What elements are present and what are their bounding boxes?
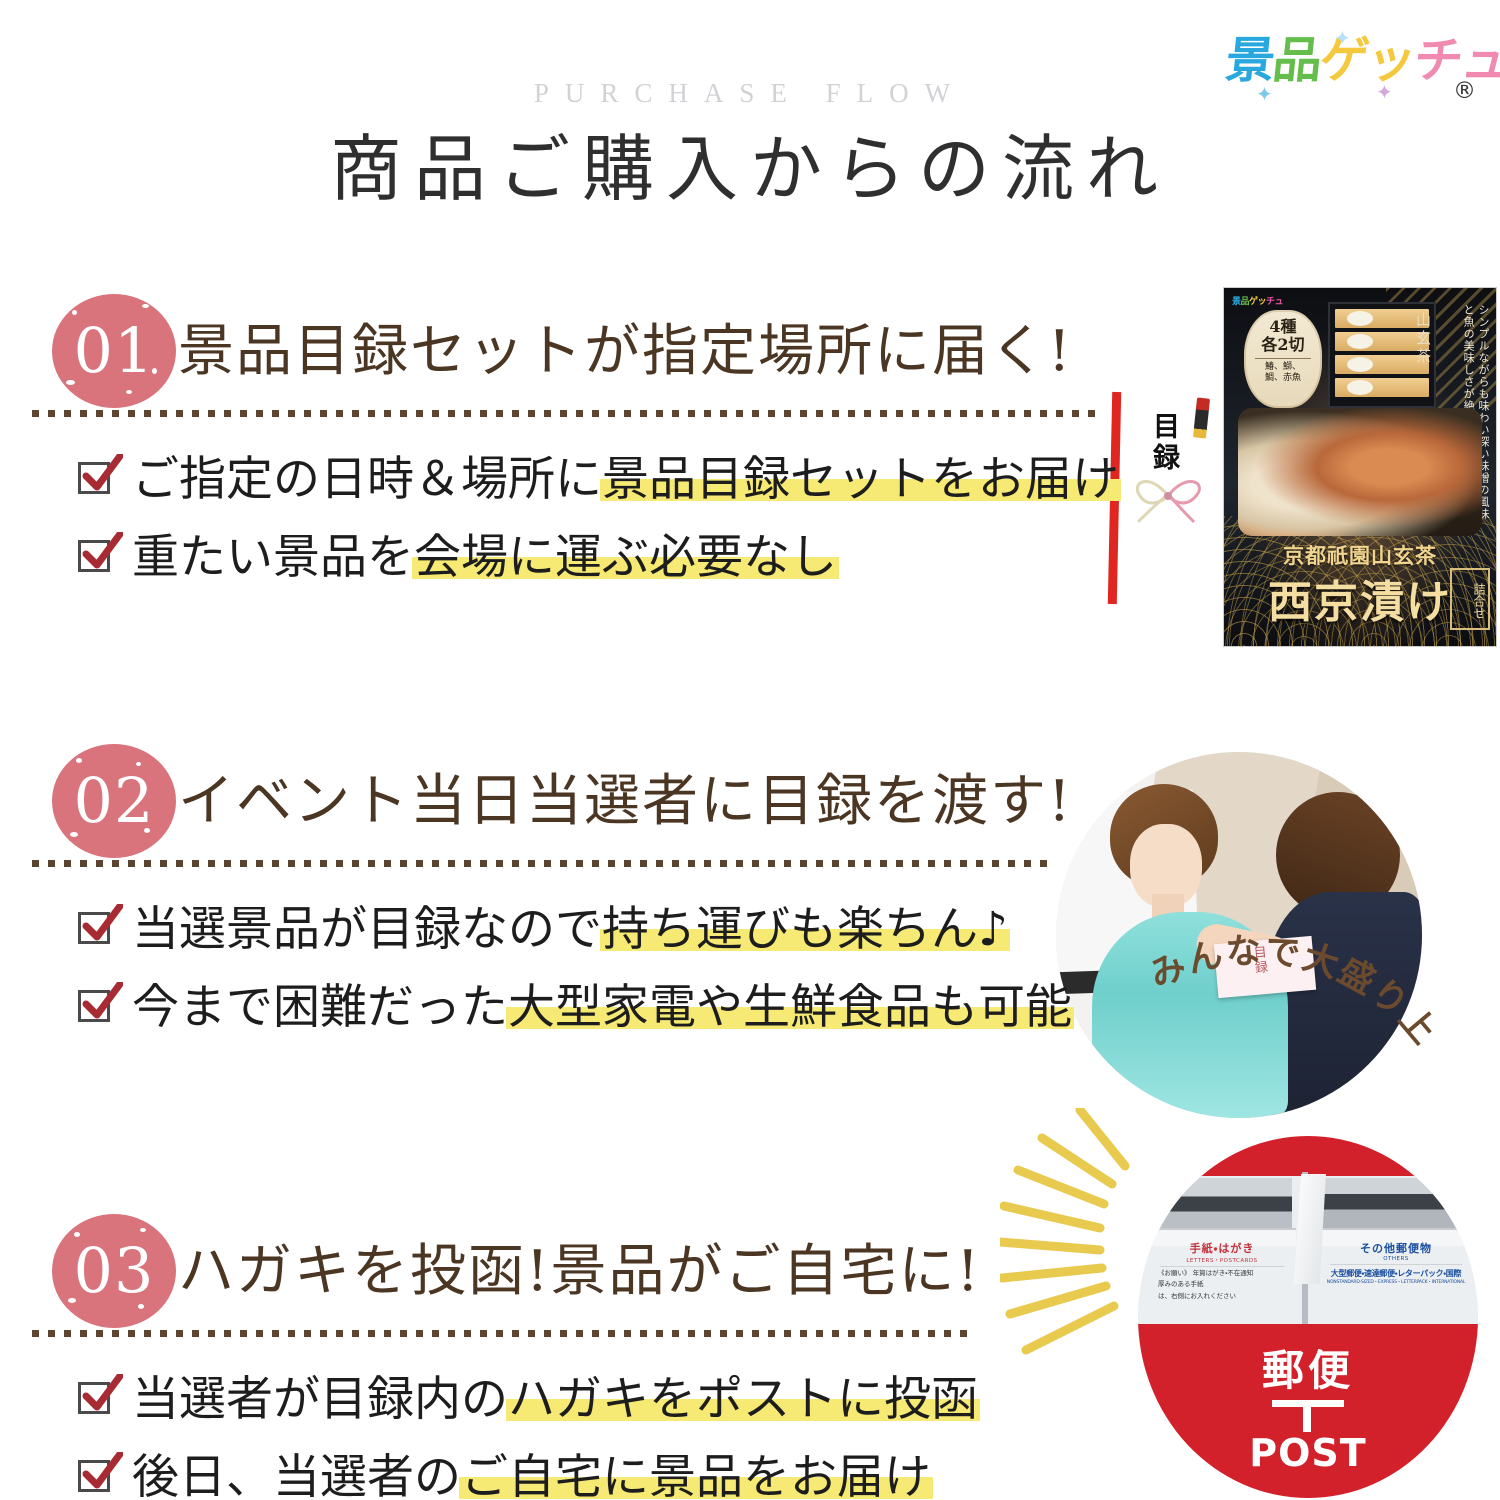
bullet-text: 当選者が目録内のハガキをポストに投函 xyxy=(132,1376,978,1423)
badge-speckle xyxy=(66,380,75,385)
step-02-title: イベント当日当選者に目録を渡す! xyxy=(178,756,1073,837)
check-icon xyxy=(78,1458,116,1496)
purchase-flow-infographic: PURCHASE FLOW 商品ご購入からの流れ 景品ゲッチュ! ✦ ✦ ✦ ®… xyxy=(0,0,1500,1500)
registered-trademark-icon: ® xyxy=(1453,78,1476,104)
post-box-right-label-jp: その他郵便物 xyxy=(1324,1240,1468,1256)
bullet-text: ご指定の日時＆場所に景品目録セットをお届け xyxy=(132,456,1119,503)
badge-speckle xyxy=(68,1298,76,1303)
bullet-text-highlight: 持ち運びも楽ちん♪ xyxy=(602,906,1008,953)
bullet-text-highlight: ご自宅に景品をお届け xyxy=(461,1454,931,1500)
bullet-text-pre: 当選景品が目録なので xyxy=(132,902,602,957)
bullet-text-highlight: 大型家電や生鮮食品も可能 xyxy=(508,984,1072,1031)
post-box-right-sub-jp: 大型郵便・速達郵便・レターパック・国際 xyxy=(1324,1268,1468,1279)
step-03-badge: 03 xyxy=(52,1214,176,1328)
mokuroku-envelope: 目録 xyxy=(1106,392,1218,604)
step-03-bullets: 当選者が目録内のハガキをポストに投函 後日、当選者のご自宅に景品をお届け xyxy=(78,1360,978,1500)
brand-logo-part-2: 品 xyxy=(1270,32,1323,89)
mizuhiki-bow-icon xyxy=(1124,462,1212,524)
post-box-label-left: 手紙・はがき LETTERS・POSTCARDS 《お願い》 年賀はがき・不在通… xyxy=(1154,1240,1290,1301)
post-box-left-label-jp: 手紙・はがき xyxy=(1154,1240,1290,1256)
bullet-text-pre: 後日、当選者の xyxy=(132,1450,461,1500)
bullet-text-highlight: 景品目録セットをお届け xyxy=(602,456,1119,503)
post-box-slot-right xyxy=(1322,1178,1470,1232)
package-kinds-sub: 鰆、鰤、 鯛、赤魚 xyxy=(1255,358,1311,385)
bullet-text-pre: 今まで困難だった xyxy=(132,980,508,1035)
bullet-text: 当選景品が目録なので持ち運びも楽ちん♪ xyxy=(132,906,1008,953)
step-01-divider xyxy=(32,410,1102,417)
post-box-right-sub-en: NONSTANDARD-SIZED・EXPRESS・LETTERPACK・INT… xyxy=(1324,1279,1468,1285)
post-box-left-label-en: LETTERS・POSTCARDS xyxy=(1154,1256,1290,1264)
post-box-photo: 手紙・はがき LETTERS・POSTCARDS 《お願い》 年賀はがき・不在通… xyxy=(1138,1136,1478,1498)
noshi-ornament-icon xyxy=(1193,397,1210,438)
badge-speckle xyxy=(126,390,132,394)
check-icon xyxy=(78,1380,116,1418)
badge-speckle xyxy=(142,304,149,308)
sparkle-icon: ✦ xyxy=(1256,82,1273,107)
step-03-artwork: 手紙・はがき LETTERS・POSTCARDS 《お願い》 年賀はがき・不在通… xyxy=(1000,1108,1500,1500)
post-box-left-note-2: 厚みのある手紙 xyxy=(1154,1280,1290,1289)
badge-speckle xyxy=(144,828,150,833)
grilled-fish-photo xyxy=(1238,408,1482,536)
photo-envelope-label: 目録 xyxy=(1248,945,1270,977)
list-item: 当選景品が目録なので持ち運びも楽ちん♪ xyxy=(78,890,1072,968)
list-item: 後日、当選者のご自宅に景品をお届け xyxy=(78,1438,978,1500)
post-box-left-note-3: は、右側にお入れください xyxy=(1154,1292,1290,1301)
step-01-bullets: ご指定の日時＆場所に景品目録セットをお届け 当選景品が目録なので重たい景品を会場… xyxy=(78,440,1119,596)
badge-speckle xyxy=(140,1228,146,1232)
brand-logo-part-3: ゲッ xyxy=(1317,32,1417,89)
bullet-text-highlight: 会場に運ぶ必要なし xyxy=(414,534,837,581)
step-01-number: 01 xyxy=(74,314,155,387)
check-icon xyxy=(78,538,116,576)
post-box-mark-en: POST xyxy=(1138,1434,1478,1472)
brand-logo: 景品ゲッチュ! ✦ ✦ ✦ ® xyxy=(1226,20,1478,110)
bullet-text-pre: 当選者が目録内の xyxy=(132,1372,508,1427)
step-02-divider xyxy=(32,860,1052,867)
step-02-bullets: 当選景品が目録なので持ち運びも楽ちん♪ 今まで困難だった大型家電や生鮮食品も可能 xyxy=(78,890,1072,1046)
award-ceremony-photo: 目録 xyxy=(1056,752,1422,1118)
step-03-number: 03 xyxy=(74,1234,155,1307)
step-01-artwork: 目録 景品ゲッチュ 4種 各2切 鰆、鰤、 鯛、赤魚 山玄茶 シンプルながらも味… xyxy=(1096,288,1500,660)
product-package-photo: 景品ゲッチュ 4種 各2切 鰆、鰤、 鯛、赤魚 山玄茶 シンプルながらも味わい深… xyxy=(1224,288,1496,646)
bullet-text: 当選景品が目録なので重たい景品を会場に運ぶ必要なし xyxy=(132,534,837,581)
bullet-text: 今まで困難だった大型家電や生鮮食品も可能 xyxy=(132,984,1072,1031)
check-icon xyxy=(78,460,116,498)
list-item: ご指定の日時＆場所に景品目録セットをお届け xyxy=(78,440,1119,518)
badge-speckle xyxy=(70,832,78,837)
photo-person-right-body xyxy=(1266,892,1422,1118)
sparkle-icon: ✦ xyxy=(1334,26,1351,51)
step-01-title: 景品目録セットが指定場所に届く! xyxy=(178,306,1073,387)
package-kinds-badge: 4種 各2切 鰆、鰤、 鯛、赤魚 xyxy=(1244,310,1322,408)
badge-speckle xyxy=(138,1304,144,1309)
step-02-badge: 02 xyxy=(52,744,176,858)
step-03-divider xyxy=(32,1330,972,1337)
bullet-text: 後日、当選者のご自宅に景品をお届け xyxy=(132,1454,931,1500)
post-box-left-note-1: 《お願い》 年賀はがき・不在通知 xyxy=(1154,1269,1290,1278)
bullet-text-pre: 重たい景品を xyxy=(132,530,414,585)
check-icon xyxy=(78,910,116,948)
list-item: 当選者が目録内のハガキをポストに投函 xyxy=(78,1360,978,1438)
step-03-title: ハガキを投函!景品がご自宅に! xyxy=(178,1226,981,1307)
check-icon xyxy=(78,988,116,1026)
package-corner-badge: 詰合せ xyxy=(1450,568,1490,630)
package-kinds-line2: 各2切 xyxy=(1244,336,1322,354)
step-02-artwork: 目録 みんなで大盛り上がり! xyxy=(1034,742,1500,1142)
badge-speckle xyxy=(72,310,77,315)
package-brand-mini: 景品ゲッチュ xyxy=(1232,294,1283,307)
post-box-label-right: その他郵便物 OTHERS 大型郵便・速達郵便・レターパック・国際 NONSTA… xyxy=(1324,1240,1468,1285)
bullet-text-pre: ご指定の日時＆場所に xyxy=(132,452,602,507)
badge-speckle xyxy=(152,368,157,374)
badge-speckle xyxy=(74,1232,80,1237)
step-02-number: 02 xyxy=(74,764,155,837)
photo-mokuroku-envelope: 目録 xyxy=(1214,936,1316,998)
package-brand-vertical: 山玄茶 xyxy=(1413,312,1434,366)
post-box-right-label-en: OTHERS xyxy=(1324,1256,1468,1262)
post-box-bottom: 郵便 POST xyxy=(1138,1324,1478,1498)
page-title: 商品ご購入からの流れ xyxy=(0,133,1500,205)
post-box-top xyxy=(1138,1136,1478,1178)
post-box-slot-left xyxy=(1150,1178,1292,1232)
step-01-badge: 01 xyxy=(52,294,176,408)
list-item: 今まで困難だった大型家電や生鮮食品も可能 xyxy=(78,968,1072,1046)
postal-mark-icon xyxy=(1272,1398,1344,1432)
sparkle-icon: ✦ xyxy=(1376,80,1393,105)
package-kinds-line1: 4種 xyxy=(1244,318,1322,336)
badge-speckle xyxy=(76,758,82,763)
bullet-text-highlight: ハガキをポストに投函 xyxy=(508,1376,978,1423)
badge-speckle xyxy=(136,762,141,766)
brand-logo-part-1: 景 xyxy=(1223,32,1276,89)
list-item: 当選景品が目録なので重たい景品を会場に運ぶ必要なし xyxy=(78,518,1119,596)
post-box-mark-jp: 郵便 xyxy=(1138,1350,1478,1392)
